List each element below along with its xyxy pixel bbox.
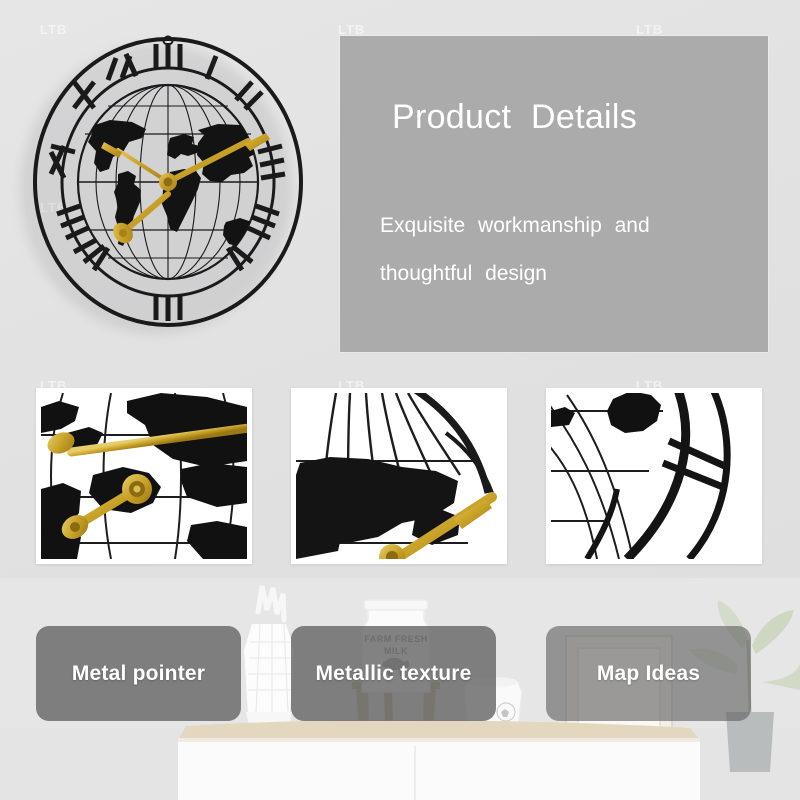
- watermark: LTB: [338, 22, 365, 37]
- product-details-panel: Product Details Exquisite workmanship an…: [340, 36, 768, 352]
- detail-photo-metal-pointer[interactable]: [36, 388, 252, 564]
- detail-photo-row: [0, 388, 800, 578]
- label-metal-pointer-text: Metal pointer: [72, 662, 205, 686]
- watermark: LTB: [636, 22, 663, 37]
- label-map-ideas[interactable]: Map Ideas: [546, 626, 751, 721]
- wall-clock-graphic: [30, 34, 306, 330]
- detail-photo-map-ideas[interactable]: [546, 388, 762, 564]
- label-metal-pointer[interactable]: Metal pointer: [36, 626, 241, 721]
- page-title: Product Details: [392, 98, 637, 137]
- label-metallic-texture[interactable]: Metallic texture: [291, 626, 496, 721]
- subtitle-line-2: thoughtful design: [380, 250, 750, 298]
- detail-photo-2-image: [296, 393, 502, 559]
- product-detail-page: LTB LTB LTB LTB LTB LTB LTB LTB LTB LTB …: [0, 0, 800, 800]
- hero-product-image: [8, 22, 318, 352]
- panel-subtitle: Exquisite workmanship and thoughtful des…: [380, 202, 750, 298]
- detail-photo-3-image: [551, 393, 757, 559]
- label-metallic-texture-text: Metallic texture: [315, 662, 471, 686]
- detail-photo-1-image: [41, 393, 247, 559]
- detail-photo-metallic-texture[interactable]: [291, 388, 507, 564]
- subtitle-line-1: Exquisite workmanship and: [380, 202, 750, 250]
- label-map-ideas-text: Map Ideas: [597, 662, 700, 686]
